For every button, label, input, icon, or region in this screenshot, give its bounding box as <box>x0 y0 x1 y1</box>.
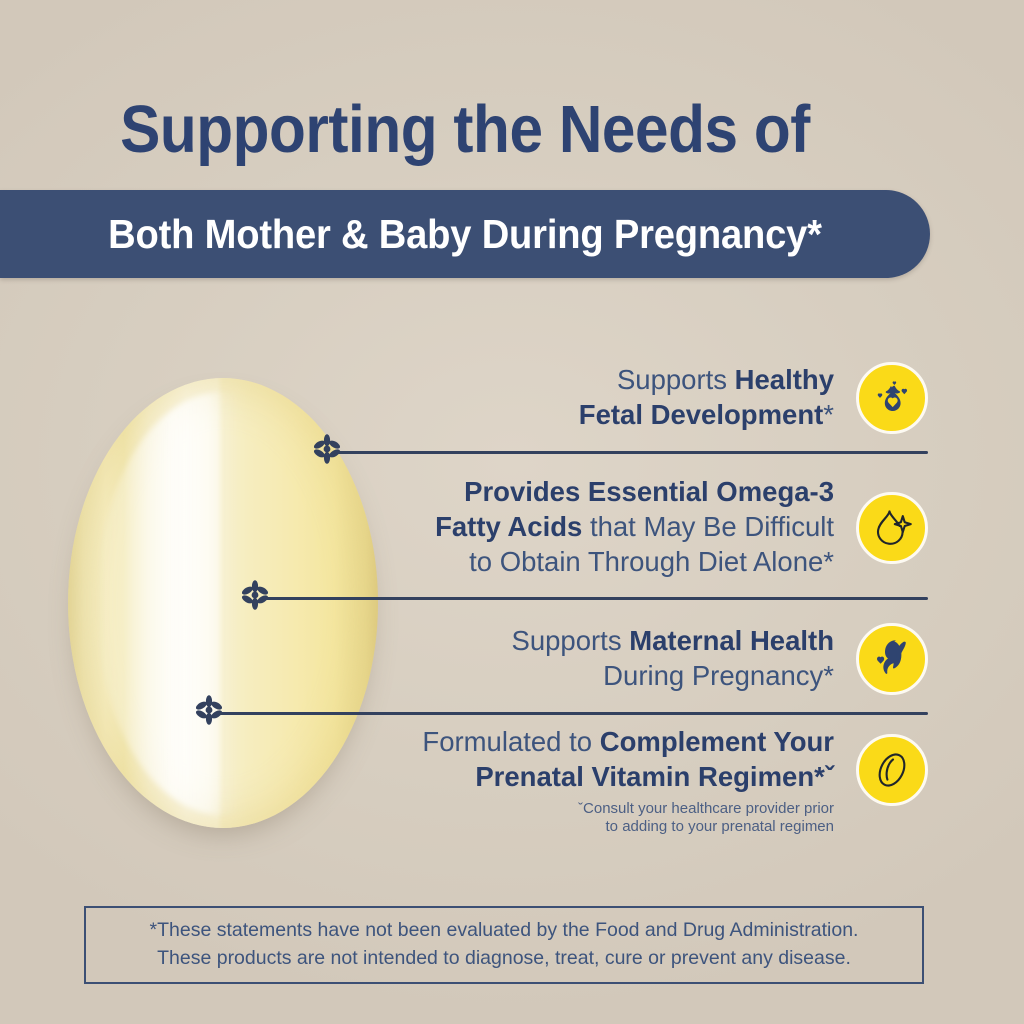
banner-title: Both Mother & Baby During Pregnancy* <box>33 190 898 278</box>
feature-4-line1-plain: Formulated to <box>422 726 599 757</box>
badge-omega3-droplet <box>856 492 928 564</box>
divider-line-1 <box>334 451 928 454</box>
subnote-line-1: ˇConsult your healthcare provider prior <box>422 800 834 818</box>
feature-text: Supports Healthy Fetal Development* <box>579 363 834 433</box>
badge-fetus-heart <box>856 362 928 434</box>
feature-4-line1-bold: Complement Your <box>600 726 834 757</box>
feature-1-line2-plain: * <box>823 399 834 430</box>
feature-row-prenatal-regimen: Formulated to Complement Your Prenatal V… <box>380 720 928 842</box>
feature-2-line3-plain: to Obtain Through Diet Alone* <box>469 546 834 577</box>
feature-text: Provides Essential Omega-3 Fatty Acids t… <box>435 475 834 580</box>
feature-row-fetal-development: Supports Healthy Fetal Development* <box>430 355 928 441</box>
feature-2-line2-bold: Fatty Acids <box>435 511 582 542</box>
feature-row-maternal-health: Supports Maternal Health During Pregnanc… <box>430 616 928 702</box>
divider-line-2 <box>262 597 928 600</box>
feature-3-line1-plain: Supports <box>512 625 630 656</box>
softgel-capsule-icon <box>868 746 916 794</box>
feature-text: Supports Maternal Health During Pregnanc… <box>512 624 835 694</box>
feature-2-line1-bold: Provides Essential Omega-3 <box>464 476 834 507</box>
pregnant-woman-heart-icon <box>867 634 917 684</box>
feature-4-line2-sup: *ˇ <box>814 761 834 792</box>
asterisk-flower-icon <box>194 695 224 725</box>
feature-3-line1-bold: Maternal Health <box>629 625 834 656</box>
feature-4-subnote: ˇConsult your healthcare provider prior … <box>422 800 834 837</box>
fetus-heart-icon <box>868 374 916 422</box>
feature-4-line2-bold: Prenatal Vitamin Regimen <box>475 761 814 792</box>
feature-1-line2-bold: Fetal Development <box>579 399 824 430</box>
omega3-droplet-sparkle-icon <box>867 503 917 553</box>
infographic-canvas: Supporting the Needs of Both Mother & Ba… <box>0 0 1024 1024</box>
badge-pregnant-woman <box>856 623 928 695</box>
banner-bar: Both Mother & Baby During Pregnancy* <box>0 190 930 278</box>
page-title: Supporting the Needs of <box>47 96 884 164</box>
feature-1-line1-plain: Supports <box>617 364 735 395</box>
asterisk-flower-icon <box>240 580 270 610</box>
feature-text: Formulated to Complement Your Prenatal V… <box>422 725 834 836</box>
asterisk-flower-icon <box>312 434 342 464</box>
disclaimer-line-1: *These statements have not been evaluate… <box>150 917 859 945</box>
feature-3-line2-plain: During Pregnancy* <box>603 660 834 691</box>
disclaimer-box: *These statements have not been evaluate… <box>84 906 924 984</box>
disclaimer-line-2: These products are not intended to diagn… <box>150 945 859 973</box>
subnote-line-2: to adding to your prenatal regimen <box>422 818 834 836</box>
feature-1-line1-bold: Healthy <box>735 364 834 395</box>
divider-line-3 <box>216 712 928 715</box>
badge-softgel-capsule <box>856 734 928 806</box>
feature-row-omega3: Provides Essential Omega-3 Fatty Acids t… <box>400 470 928 585</box>
feature-2-line2-plain: that May Be Difficult <box>582 511 834 542</box>
